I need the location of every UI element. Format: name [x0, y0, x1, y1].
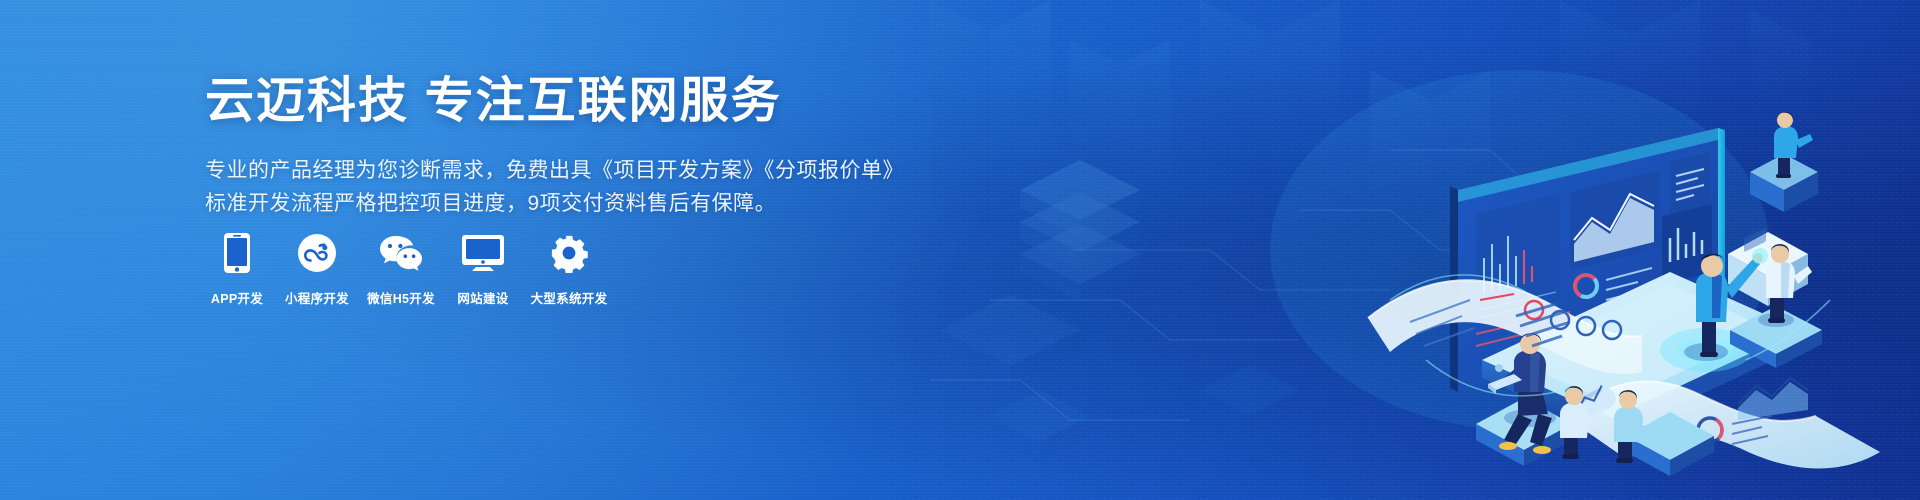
- page-title: 云迈科技 专注互联网服务: [205, 70, 925, 132]
- mobile-phone-icon: [223, 230, 251, 276]
- subtitle-line-1: 专业的产品经理为您诊断需求，免费出具《项目开发方案》《分项报价单》: [205, 154, 925, 187]
- mini-program-icon: [297, 230, 337, 276]
- monitor-icon: [461, 230, 505, 276]
- service-label-wechat-h5: 微信H5开发: [367, 292, 435, 306]
- service-label-large-system: 大型系统开发: [531, 292, 608, 306]
- subtitle-block: 专业的产品经理为您诊断需求，免费出具《项目开发方案》《分项报价单》 标准开发流程…: [205, 154, 925, 220]
- wechat-icon: [378, 230, 424, 276]
- service-label-miniprogram: 小程序开发: [285, 292, 349, 306]
- service-item-large-system[interactable]: 大型系统开发: [522, 230, 616, 306]
- isometric-illustration: [870, 0, 1920, 500]
- service-item-app[interactable]: APP开发: [198, 230, 276, 306]
- hero-banner: 云迈科技 专注互联网服务 专业的产品经理为您诊断需求，免费出具《项目开发方案》《…: [0, 0, 1920, 500]
- service-label-website: 网站建设: [457, 292, 508, 306]
- gear-icon: [549, 230, 589, 276]
- service-item-website[interactable]: 网站建设: [444, 230, 522, 306]
- service-icon-row: APP开发 小程序开发: [198, 230, 616, 306]
- service-item-miniprogram[interactable]: 小程序开发: [276, 230, 358, 306]
- service-item-wechat-h5[interactable]: 微信H5开发: [358, 230, 444, 306]
- subtitle-line-2: 标准开发流程严格把控项目进度，9项交付资料售后有保障。: [205, 187, 925, 220]
- service-label-app: APP开发: [211, 292, 263, 306]
- hero-copy: 云迈科技 专注互联网服务 专业的产品经理为您诊断需求，免费出具《项目开发方案》《…: [205, 70, 925, 220]
